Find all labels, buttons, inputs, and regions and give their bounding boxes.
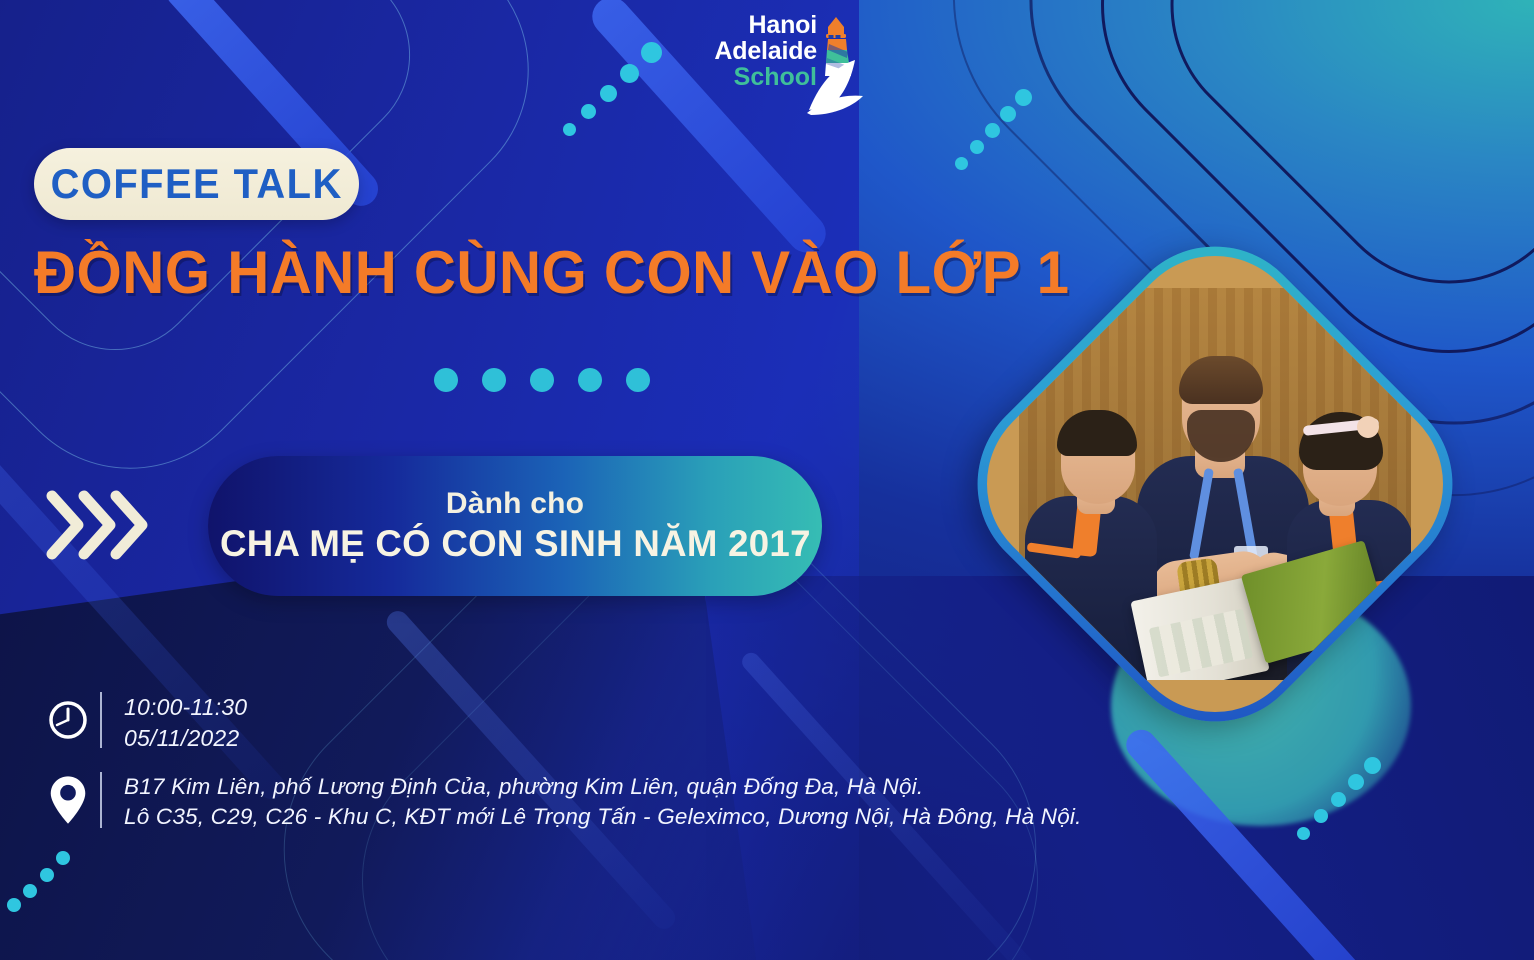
dot: [434, 368, 458, 392]
logo-line-1: Hanoi: [697, 12, 817, 38]
divider: [100, 692, 102, 748]
coffee-talk-badge: COFFEE TALK: [34, 148, 359, 220]
event-photo: [934, 198, 1496, 770]
logo-line-2: Adelaide: [697, 38, 817, 64]
photo-clip: [951, 220, 1480, 749]
audience-prefix: Dành cho: [446, 487, 584, 521]
school-logo[interactable]: Hanoi Adelaide School: [697, 12, 877, 118]
promo-banner: Hanoi Adelaide School: [0, 0, 1534, 960]
logo-line-3: School: [697, 64, 817, 90]
logo-wordmark: Hanoi Adelaide School: [697, 12, 817, 90]
decorative-dot-row: [434, 368, 650, 392]
coffee-talk-label: COFFEE TALK: [50, 160, 342, 208]
address-line-1: B17 Kim Liên, phố Lương Định Của, phường…: [124, 772, 1082, 802]
dot: [530, 368, 554, 392]
teacher-hair: [1179, 356, 1263, 404]
time-text-group: 10:00-11:30 05/11/2022: [124, 692, 247, 754]
girl-hair-flower: [1357, 416, 1379, 438]
event-date: 05/11/2022: [124, 723, 247, 754]
page-title: ĐỒNG HÀNH CÙNG CON VÀO LỚP 1: [34, 243, 1014, 303]
audience-target: CHA MẸ CÓ CON SINH NĂM 2017: [220, 523, 811, 565]
event-time: 10:00-11:30: [124, 692, 247, 723]
photo-frame: [938, 207, 1492, 761]
address-line-2: Lô C35, C29, C26 - Khu C, KĐT mới Lê Trọ…: [124, 802, 1082, 832]
location-row: B17 Kim Liên, phố Lương Định Của, phường…: [42, 772, 1102, 833]
dot: [578, 368, 602, 392]
audience-pill: Dành cho CHA MẸ CÓ CON SINH NĂM 2017: [208, 456, 822, 596]
map-pin-icon: [42, 772, 94, 828]
divider: [100, 772, 102, 828]
dot: [482, 368, 506, 392]
clock-icon: [42, 692, 94, 748]
double-chevron-right-icon: [44, 486, 154, 564]
photo-content: [1019, 288, 1411, 680]
address-text-group: B17 Kim Liên, phố Lương Định Của, phường…: [124, 772, 1082, 833]
dot: [626, 368, 650, 392]
lighthouse-sail-icon: [803, 14, 869, 118]
classroom-scene: [1019, 288, 1411, 680]
